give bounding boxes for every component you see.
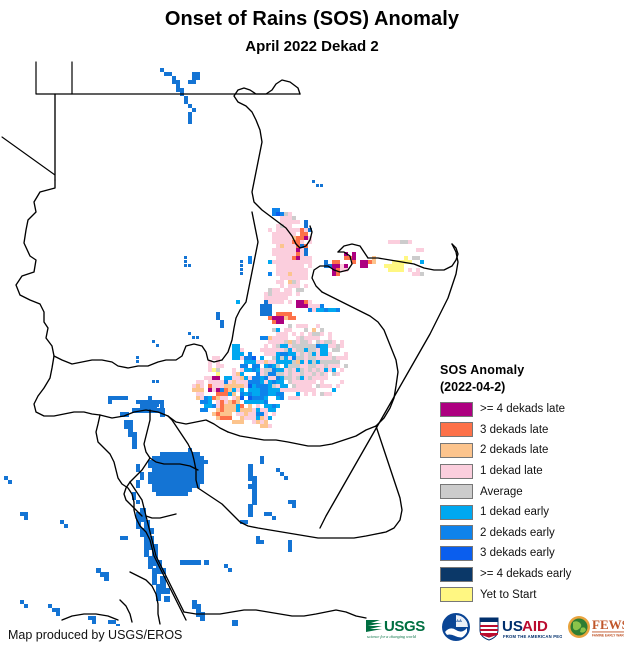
fewsnet-globe — [568, 616, 590, 638]
legend-label: 3 dekads late — [480, 424, 548, 436]
legend-item[interactable]: 3 dekads late — [440, 420, 620, 441]
fewsnet-logo[interactable]: FEWS NET FAMINE EARLY WARNING SYSTEMS NE… — [567, 612, 624, 642]
legend-item[interactable]: 2 dekads early — [440, 523, 620, 544]
legend-item[interactable]: 1 dekad late — [440, 461, 620, 482]
legend-panel: SOS Anomaly (2022-04-2) >= 4 dekads late… — [440, 362, 620, 605]
svg-text:NOAA: NOAA — [450, 618, 462, 623]
legend-label: 1 dekad late — [480, 465, 543, 477]
svg-text:FROM THE AMERICAN PEOPLE: FROM THE AMERICAN PEOPLE — [503, 634, 562, 639]
legend-swatch — [440, 505, 473, 520]
legend-swatch — [440, 525, 473, 540]
svg-text:US: US — [502, 618, 523, 635]
legend-item[interactable]: >= 4 dekads late — [440, 399, 620, 420]
legend-label: >= 4 dekads late — [480, 403, 565, 415]
legend-label: Yet to Start — [480, 589, 536, 601]
legend-swatch — [440, 422, 473, 437]
legend-item[interactable]: Average — [440, 481, 620, 502]
legend-label: 1 dekad early — [480, 506, 549, 518]
legend-item[interactable]: 3 dekads early — [440, 543, 620, 564]
legend-title: SOS Anomaly — [440, 362, 620, 379]
svg-text:FAMINE EARLY WARNING SYSTEMS N: FAMINE EARLY WARNING SYSTEMS NETWORK — [592, 634, 624, 638]
legend-swatch — [440, 402, 473, 417]
legend-label: 2 dekads early — [480, 527, 555, 539]
legend-swatch — [440, 546, 473, 561]
legend-item[interactable]: 1 dekad early — [440, 502, 620, 523]
usaid-shield — [480, 618, 498, 640]
sos-anomaly-map-page: Onset of Rains (SOS) Anomaly April 2022 … — [0, 0, 624, 648]
legend-items: >= 4 dekads late3 dekads late2 dekads la… — [440, 399, 620, 605]
usgs-wave-mark — [366, 620, 382, 632]
legend-subtitle: (2022-04-2) — [440, 379, 620, 396]
svg-text:AID: AID — [522, 618, 548, 635]
usaid-logo[interactable]: US AID FROM THE AMERICAN PEOPLE — [476, 612, 562, 642]
usgs-logo[interactable]: USGS science for a changing world — [364, 612, 436, 642]
legend-swatch — [440, 567, 473, 582]
legend-swatch — [440, 443, 473, 458]
legend-swatch — [440, 587, 473, 602]
svg-text:USGS: USGS — [384, 618, 425, 635]
svg-text:science for a changing world: science for a changing world — [367, 634, 417, 639]
legend-swatch — [440, 464, 473, 479]
svg-text:FEWS NET: FEWS NET — [592, 617, 624, 632]
legend-label: 2 dekads late — [480, 444, 548, 456]
map-credit: Map produced by USGS/EROS — [8, 628, 182, 642]
legend-item[interactable]: >= 4 dekads early — [440, 564, 620, 585]
legend-label: Average — [480, 486, 523, 498]
noaa-logo[interactable]: NOAA — [441, 612, 471, 642]
legend-item[interactable]: Yet to Start — [440, 584, 620, 605]
page-title: Onset of Rains (SOS) Anomaly — [0, 8, 624, 31]
legend-item[interactable]: 2 dekads late — [440, 440, 620, 461]
legend-label: >= 4 dekads early — [480, 568, 571, 580]
agency-logos: USGS science for a changing world NOAA — [364, 609, 620, 645]
page-subtitle: April 2022 Dekad 2 — [0, 38, 624, 55]
legend-swatch — [440, 484, 473, 499]
legend-label: 3 dekads early — [480, 547, 555, 559]
